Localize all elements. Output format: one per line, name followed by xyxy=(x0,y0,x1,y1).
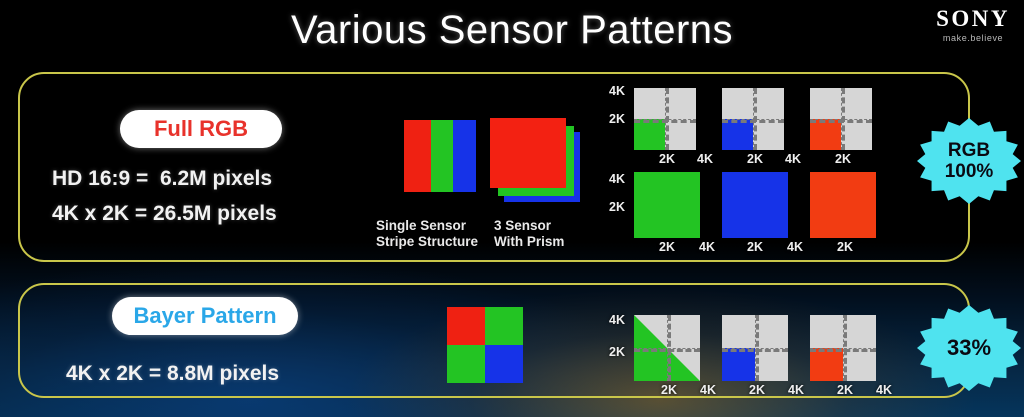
rgb-r1c2-xtick-2k: 2K xyxy=(747,152,763,166)
stripe-green xyxy=(431,120,453,192)
grid-rgb-r1c3 xyxy=(810,88,872,150)
grid-rgb-r2c3 xyxy=(810,172,876,238)
spec-hd-pixels: HD 16:9 = 6.2M pixels xyxy=(52,167,272,191)
sony-tagline: make.believe xyxy=(936,33,1010,43)
rgb-r2c1-xtick-2k: 2K xyxy=(659,240,675,254)
bayer-cell-red xyxy=(447,307,485,345)
grid-bayer-c2 xyxy=(722,315,788,381)
rgb-r1c3-xtick-2k: 2K xyxy=(835,152,851,166)
spec-4k-pixels: 4K x 2K = 26.5M pixels xyxy=(52,202,277,226)
grid-rgb-r2c1 xyxy=(634,172,700,238)
rgb-r1-ytick-2k: 2K xyxy=(609,112,625,126)
grid-fill-green xyxy=(634,119,665,150)
badge-bayer-pattern: Bayer Pattern xyxy=(112,297,298,335)
grid-bayer-c3 xyxy=(810,315,876,381)
rgb-r2-ytick-4k: 4K xyxy=(609,172,625,186)
grid-hline xyxy=(722,119,784,123)
rgb-r2-ytick-2k: 2K xyxy=(609,200,625,214)
badge-bayer-line1: 33% xyxy=(947,337,991,359)
grid-fill-green xyxy=(634,172,700,238)
rgb-r1c1-xtick-2k: 2K xyxy=(659,152,675,166)
grid-rgb-r2c2 xyxy=(722,172,788,238)
bayer-c2-xtick-4k: 4K xyxy=(788,383,804,397)
grid-fill-orange-red xyxy=(810,172,876,238)
rgb-r2c1-xtick-4k: 4K xyxy=(699,240,715,254)
grid-hline xyxy=(810,119,872,123)
grid-rgb-r1c2 xyxy=(722,88,784,150)
bayer-ytick-2k: 2K xyxy=(609,345,625,359)
grid-fill-blue xyxy=(722,348,755,381)
grid-bayer-c1 xyxy=(634,315,700,381)
sony-wordmark: SONY xyxy=(936,6,1010,32)
three-sensor-prism-diagram xyxy=(490,118,586,204)
page-title: Various Sensor Patterns xyxy=(0,8,1024,53)
three-sensor-caption: 3 Sensor With Prism xyxy=(494,218,564,250)
rgb-r1c1-xtick-4k: 4K xyxy=(697,152,713,166)
bayer-c3-xtick-2k: 2K xyxy=(837,383,853,397)
bayer-mosaic-diagram xyxy=(447,307,523,383)
rgb-r1-ytick-4k: 4K xyxy=(609,84,625,98)
grid-hline xyxy=(634,348,700,352)
bayer-c2-xtick-2k: 2K xyxy=(749,383,765,397)
bayer-c1-xtick-2k: 2K xyxy=(661,383,677,397)
spec-bayer-pixels: 4K x 2K = 8.8M pixels xyxy=(66,362,279,386)
grid-hline xyxy=(810,348,876,352)
grid-fill-blue xyxy=(722,119,753,150)
rgb-r2c3-xtick-2k: 2K xyxy=(837,240,853,254)
rgb-r1c2-xtick-4k: 4K xyxy=(785,152,801,166)
grid-rgb-r1c1 xyxy=(634,88,696,150)
sony-logo: SONY make.believe xyxy=(936,6,1010,43)
grid-fill-blue xyxy=(722,172,788,238)
bayer-ytick-4k: 4K xyxy=(609,313,625,327)
bayer-cell-green-tr xyxy=(485,307,523,345)
grid-fill-orange-red xyxy=(810,348,843,381)
rgb-r2c2-xtick-2k: 2K xyxy=(747,240,763,254)
bayer-c1-xtick-4k: 4K xyxy=(700,383,716,397)
rgb-r2c2-xtick-4k: 4K xyxy=(787,240,803,254)
grid-hline xyxy=(722,348,788,352)
stripe-blue xyxy=(453,120,476,192)
slide-canvas: Various Sensor Patterns SONY make.believ… xyxy=(0,0,1024,417)
grid-hline xyxy=(634,119,696,123)
bayer-cell-green-bl xyxy=(447,345,485,383)
stripe-red xyxy=(404,120,431,192)
prism-layer-red xyxy=(490,118,566,188)
single-sensor-stripe-diagram xyxy=(404,120,476,192)
grid-fill-orange-red xyxy=(810,119,841,150)
bayer-cell-blue xyxy=(485,345,523,383)
badge-full-rgb: Full RGB xyxy=(120,110,282,148)
badge-rgb-line1: RGB xyxy=(948,141,990,160)
badge-rgb-line2: 100% xyxy=(945,162,994,181)
single-sensor-caption: Single Sensor Stripe Structure xyxy=(376,218,478,250)
bayer-c3-xtick-4k: 4K xyxy=(876,383,892,397)
